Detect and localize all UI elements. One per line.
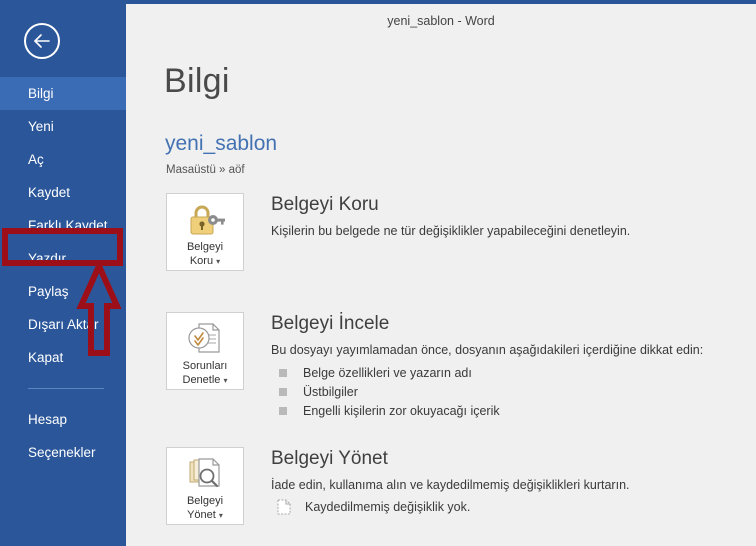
word-backstage-screen: Bilgi Yeni Aç Kaydet Farklı Kaydet Yazdı… bbox=[0, 0, 756, 546]
sidebar-item-label: Farklı Kaydet bbox=[28, 218, 108, 233]
sidebar-item-label: Seçenekler bbox=[28, 445, 96, 460]
square-bullet-icon bbox=[279, 369, 287, 377]
sidebar-item-label: Kaydet bbox=[28, 185, 70, 200]
list-item-label: Engelli kişilerin zor okuyacağı içerik bbox=[303, 404, 500, 418]
tile-label: Belgeyi Yönet ▾ bbox=[187, 494, 223, 523]
sidebar-item-secenekler[interactable]: Seçenekler bbox=[0, 436, 126, 469]
sidebar-item-bilgi[interactable]: Bilgi bbox=[0, 77, 126, 110]
tile-label: Sorunları Denetle ▾ bbox=[183, 359, 228, 388]
section-heading: Belgeyi İncele bbox=[271, 312, 703, 336]
document-name: yeni_sablon bbox=[165, 132, 277, 156]
section-description: İade edin, kullanıma alın ve kaydedilmem… bbox=[271, 477, 630, 493]
document-check-icon bbox=[185, 319, 225, 357]
sidebar-item-label: Bilgi bbox=[28, 86, 54, 101]
window-title: yeni_sablon - Word bbox=[126, 14, 756, 28]
section-description: Kişilerin bu belgede ne tür değişiklikle… bbox=[271, 223, 630, 239]
list-item: Engelli kişilerin zor okuyacağı içerik bbox=[271, 401, 703, 420]
sidebar-divider bbox=[28, 388, 104, 389]
chevron-down-icon[interactable]: ▾ bbox=[219, 511, 223, 520]
sidebar-item-label: Hesap bbox=[28, 412, 67, 427]
sidebar-item-hesap[interactable]: Hesap bbox=[0, 403, 126, 436]
list-item-label: Üstbilgiler bbox=[303, 385, 358, 399]
square-bullet-icon bbox=[279, 407, 287, 415]
inspect-issue-list: Belge özellikleri ve yazarın adı Üstbilg… bbox=[271, 363, 703, 420]
back-button[interactable] bbox=[24, 23, 60, 59]
sidebar-item-label: Paylaş bbox=[28, 284, 69, 299]
check-for-issues-button[interactable]: Sorunları Denetle ▾ bbox=[166, 312, 244, 390]
tile-label-line1: Belgeyi bbox=[187, 241, 223, 253]
square-bullet-icon bbox=[279, 388, 287, 396]
backstage-content: yeni_sablon - Word Bilgi yeni_sablon Mas… bbox=[126, 4, 756, 546]
sidebar-item-label: Aç bbox=[28, 152, 44, 167]
chevron-down-icon[interactable]: ▾ bbox=[216, 257, 220, 266]
sidebar-item-label: Yeni bbox=[28, 119, 54, 134]
section-body: Belgeyi İncele Bu dosyayı yayımlamadan ö… bbox=[271, 312, 703, 420]
page-title: Bilgi bbox=[164, 62, 230, 101]
manage-document-button[interactable]: Belgeyi Yönet ▾ bbox=[166, 447, 244, 525]
list-item: Belge özellikleri ve yazarın adı bbox=[271, 363, 703, 382]
tile-label-line1: Sorunları bbox=[183, 360, 228, 372]
sidebar-item-farkli-kaydet[interactable]: Farklı Kaydet bbox=[0, 209, 126, 242]
back-arrow-icon bbox=[32, 33, 52, 49]
tile-label-line2: Koru bbox=[190, 255, 213, 267]
sidebar-item-kapat[interactable]: Kapat bbox=[0, 341, 126, 374]
sidebar-item-label: Yazdır bbox=[28, 251, 66, 266]
document-search-icon bbox=[185, 454, 225, 492]
sidebar-nav-list: Bilgi Yeni Aç Kaydet Farklı Kaydet Yazdı… bbox=[0, 77, 126, 469]
sidebar-item-label: Kapat bbox=[28, 350, 63, 365]
sidebar-item-yeni[interactable]: Yeni bbox=[0, 110, 126, 143]
sidebar-item-paylas[interactable]: Paylaş bbox=[0, 275, 126, 308]
protect-document-button[interactable]: Belgeyi Koru ▾ bbox=[166, 193, 244, 271]
sidebar-item-kaydet[interactable]: Kaydet bbox=[0, 176, 126, 209]
list-item: Üstbilgiler bbox=[271, 382, 703, 401]
tile-label-line2: Denetle bbox=[183, 374, 221, 386]
section-body: Belgeyi Koru Kişilerin bu belgede ne tür… bbox=[271, 193, 630, 239]
section-heading: Belgeyi Yönet bbox=[271, 447, 630, 471]
backstage-sidebar: Bilgi Yeni Aç Kaydet Farklı Kaydet Yazdı… bbox=[0, 0, 126, 546]
unsaved-changes-note: Kaydedilmemiş değişiklik yok. bbox=[271, 499, 630, 515]
section-body: Belgeyi Yönet İade edin, kullanıma alın … bbox=[271, 447, 630, 515]
tile-label-line2: Yönet bbox=[187, 509, 216, 521]
tile-label-line1: Belgeyi bbox=[187, 495, 223, 507]
section-heading: Belgeyi Koru bbox=[271, 193, 630, 217]
sidebar-item-ac[interactable]: Aç bbox=[0, 143, 126, 176]
sidebar-item-yazdir[interactable]: Yazdır bbox=[0, 242, 126, 275]
unsaved-changes-label: Kaydedilmemiş değişiklik yok. bbox=[305, 500, 470, 514]
sidebar-item-disari-aktar[interactable]: Dışarı Aktar bbox=[0, 308, 126, 341]
list-item-label: Belge özellikleri ve yazarın adı bbox=[303, 366, 472, 380]
section-description: Bu dosyayı yayımlamadan önce, dosyanın a… bbox=[271, 342, 703, 358]
document-path: Masaüstü » aöf bbox=[166, 164, 245, 176]
unsaved-document-icon bbox=[277, 499, 291, 515]
tile-label: Belgeyi Koru ▾ bbox=[187, 240, 223, 269]
chevron-down-icon[interactable]: ▾ bbox=[223, 376, 227, 385]
lock-key-icon bbox=[185, 200, 225, 238]
sidebar-item-label: Dışarı Aktar bbox=[28, 317, 99, 332]
